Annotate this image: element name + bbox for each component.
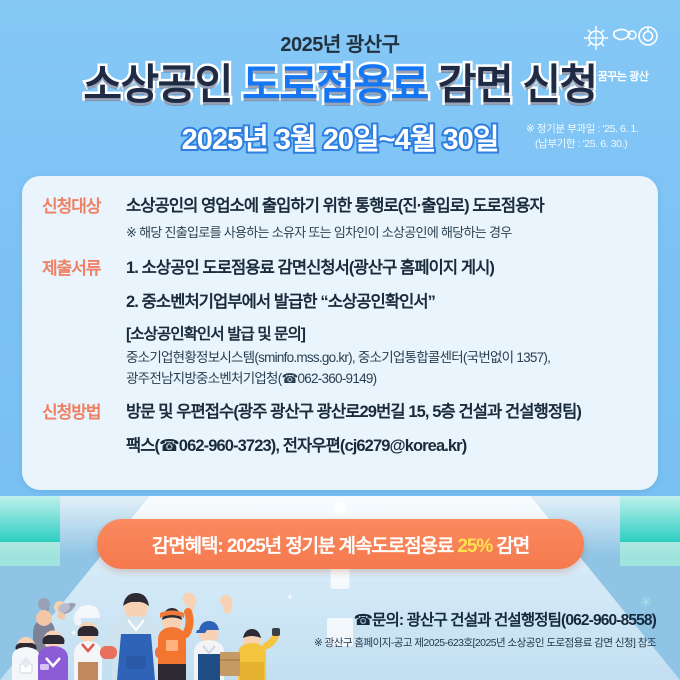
- footer-contact: ☎문의: 광산구 건설과 건설행정팀(062-960-8558): [236, 608, 656, 630]
- section-documents: 제출서류 1. 소상공인 도로점용료 감면신청서(광산구 홈페이지 게시) 2.…: [42, 256, 638, 390]
- benefit-highlight: 25%: [457, 536, 492, 557]
- benefit-banner: 감면혜택: 2025년 정기분 계속도로점용료 25% 감면: [97, 519, 584, 569]
- benefit-prefix: 감면혜택: 2025년 정기분 계속도로점용료: [152, 536, 458, 557]
- footer-reference-note: ※ 광산구 홈페이지-공고 제2025-623호[2025년 소상공인 도로점용…: [236, 635, 656, 650]
- label-method: 신청방법: [42, 400, 126, 426]
- label-documents: 제출서류: [42, 256, 126, 282]
- target-note-text: ※ 해당 진출입로를 사용하는 소유자 또는 임차인이 소상공인에 해당하는 경…: [126, 223, 638, 244]
- information-card: 신청대상 소상공인의 영업소에 출입하기 위한 통행로(진·출입로) 도로점용자…: [22, 176, 658, 490]
- title-segment-dark-1: 소상공인: [83, 61, 242, 108]
- gwangsan-gu-logo: 꿈꾸는 광산: [580, 18, 666, 80]
- billing-date-note: ※ 정기분 부과일 : '25. 6. 1. (납부기한 : '25. 6. 3…: [526, 122, 672, 152]
- benefit-text: 감면혜택: 2025년 정기분 계속도로점용료 25% 감면: [152, 531, 529, 558]
- person-orange-jacket: [158, 593, 197, 680]
- title-segment-blue: 도로점용료: [242, 61, 428, 108]
- billing-date-line1: ※ 정기분 부과일 : '25. 6. 1.: [526, 122, 672, 137]
- footer: ☎문의: 광산구 건설과 건설행정팀(062-960-8558) ※ 광산구 홈…: [236, 608, 656, 650]
- page-title: 소상공인 도로점용료 감면 신청: [0, 63, 680, 107]
- document-sub-heading: [소상공인확인서 발급 및 문의]: [126, 323, 638, 348]
- logo-emblem-icon: [580, 18, 666, 62]
- document-contact-1: 중소기업현황정보시스템(sminfo.mss.go.kr), 중소기업통합콜센터…: [126, 348, 638, 369]
- label-target: 신청대상: [42, 194, 126, 220]
- document-item-1: 1. 소상공인 도로점용료 감면신청서(광산구 홈페이지 게시): [126, 256, 638, 282]
- section-target: 신청대상 소상공인의 영업소에 출입하기 위한 통행로(진·출입로) 도로점용자…: [42, 194, 638, 243]
- road-dash-marking: [335, 502, 345, 514]
- road-dash-marking: [331, 568, 350, 589]
- poster-root: ✦ ✦ ✳ ✦ ✦: [0, 0, 680, 680]
- method-line-2: 팩스(☎062-960-3723), 전자우편(cj6279@korea.kr): [126, 434, 638, 460]
- billing-date-line2: (납부기한 : '25. 6. 30.): [526, 137, 672, 152]
- header-subtitle: 2025년 광산구: [0, 28, 680, 57]
- benefit-suffix: 감면: [492, 536, 529, 557]
- target-main-text: 소상공인의 영업소에 출입하기 위한 통행로(진·출입로) 도로점용자: [126, 194, 638, 220]
- logo-text: 꿈꾸는 광산: [580, 68, 666, 84]
- document-item-2: 2. 중소벤처기업부에서 발급한 “소상공인확인서”: [126, 290, 638, 316]
- document-contact-2: 광주전남지방중소벤처기업청(☎062-360-9149): [126, 369, 638, 390]
- method-line-1: 방문 및 우편접수(광주 광산구 광산로29번길 15, 5층 건설과 건설행정…: [126, 400, 638, 426]
- title-segment-dark-2: 감면 신청: [428, 61, 597, 108]
- section-method: 신청방법 방문 및 우편접수(광주 광산구 광산로29번길 15, 5층 건설과…: [42, 400, 638, 459]
